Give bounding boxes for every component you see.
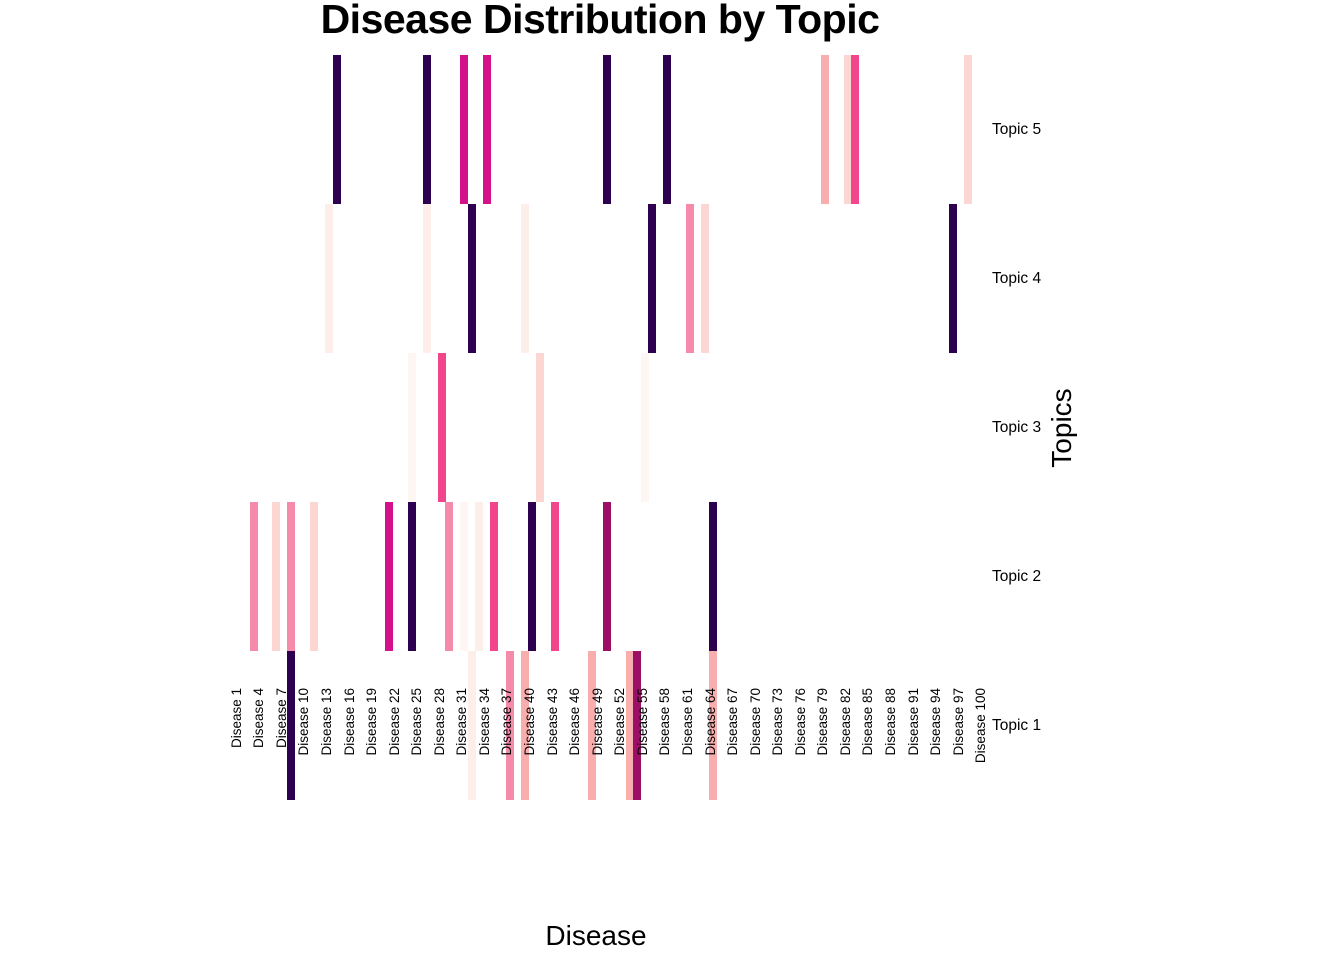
heatmap-cell — [709, 502, 717, 651]
heatmap-cell — [603, 502, 611, 651]
heatmap-cell — [423, 55, 431, 204]
heatmap-cell — [821, 55, 829, 204]
x-axis-tick-label: Disease 34 — [477, 688, 492, 808]
y-axis-tick-topic-2: Topic 2 — [992, 569, 1041, 585]
heatmap-cell — [475, 502, 483, 651]
x-axis-tick-label: Disease 1 — [229, 688, 244, 808]
x-axis-tick-label: Disease 85 — [860, 688, 875, 808]
x-axis-tick-label: Disease 76 — [793, 688, 808, 808]
heatmap-cell — [949, 204, 957, 353]
x-axis-tick-label: Disease 79 — [815, 688, 830, 808]
heatmap-cell — [851, 55, 859, 204]
x-axis-tick-label: Disease 88 — [883, 688, 898, 808]
heatmap-cell — [468, 651, 476, 800]
heatmap-cell — [325, 204, 333, 353]
heatmap-cell — [641, 353, 649, 502]
x-axis-tick-label: Disease 7 — [274, 688, 289, 808]
x-axis-tick-label: Disease 49 — [590, 688, 605, 808]
x-axis-tick-label: Disease 25 — [409, 688, 424, 808]
x-axis-tick-label: Disease 97 — [951, 688, 966, 808]
x-axis-tick-label: Disease 64 — [703, 688, 718, 808]
heatmap-cell — [385, 502, 393, 651]
heatmap-cell — [250, 502, 258, 651]
heatmap-cell — [445, 502, 453, 651]
x-axis-tick-label: Disease 19 — [364, 688, 379, 808]
x-axis-tick-label: Disease 28 — [432, 688, 447, 808]
x-axis-tick-label: Disease 91 — [906, 688, 921, 808]
y-axis-tick-topic-4: Topic 4 — [992, 271, 1041, 287]
x-axis-tick-label: Disease 40 — [522, 688, 537, 808]
x-axis-tick-label: Disease 37 — [499, 688, 514, 808]
x-axis-tick-label: Disease 16 — [342, 688, 357, 808]
x-axis-tick-label: Disease 22 — [387, 688, 402, 808]
heatmap-cell — [701, 204, 709, 353]
heatmap-cell — [438, 353, 446, 502]
heatmap-cell — [272, 502, 280, 651]
heatmap-cell — [551, 502, 559, 651]
heatmap-cell — [408, 502, 416, 651]
heatmap-row — [220, 502, 972, 651]
heatmap-cell — [333, 55, 341, 204]
heatmap-row — [220, 353, 972, 502]
y-axis-tick-topic-5: Topic 5 — [992, 122, 1041, 138]
heatmap-row — [220, 204, 972, 353]
x-axis-tick-label: Disease 31 — [454, 688, 469, 808]
x-axis-tick-label: Disease 43 — [545, 688, 560, 808]
x-axis-title: Disease — [220, 920, 972, 952]
x-axis-tick-label: Disease 67 — [725, 688, 740, 808]
heatmap-cell — [964, 55, 972, 204]
x-axis-tick-label: Disease 13 — [319, 688, 334, 808]
heatmap-cell — [663, 55, 671, 204]
heatmap-cell — [521, 204, 529, 353]
x-axis-tick-label: Disease 52 — [612, 688, 627, 808]
heatmap-cell — [686, 204, 694, 353]
heatmap-cell — [287, 502, 295, 651]
heatmap-row — [220, 55, 972, 204]
heatmap-cell — [528, 502, 536, 651]
x-axis-tick-label: Disease 58 — [657, 688, 672, 808]
heatmap-cell — [648, 204, 656, 353]
y-axis-title: Topics — [1046, 358, 1078, 498]
x-axis-tick-label: Disease 4 — [251, 688, 266, 808]
heatmap-cell — [603, 55, 611, 204]
heatmap-cell — [490, 502, 498, 651]
heatmap-cell — [483, 55, 491, 204]
heatmap-cell — [468, 204, 476, 353]
x-axis-tick-label: Disease 94 — [928, 688, 943, 808]
x-axis-tick-label: Disease 73 — [770, 688, 785, 808]
x-axis-tick-label: Disease 100 — [973, 688, 988, 808]
heatmap-cell — [536, 353, 544, 502]
x-axis-tick-label: Disease 46 — [567, 688, 582, 808]
x-axis-tick-label: Disease 82 — [838, 688, 853, 808]
x-axis-tick-label: Disease 10 — [296, 688, 311, 808]
page-title: Disease Distribution by Topic — [0, 0, 1200, 43]
chart-root: Disease Distribution by Topic Disease 1D… — [0, 0, 1344, 960]
heatmap-cell — [408, 353, 416, 502]
heatmap-cell — [310, 502, 318, 651]
x-axis-tick-label: Disease 55 — [635, 688, 650, 808]
y-axis-tick-topic-1: Topic 1 — [992, 718, 1041, 734]
heatmap-cell — [460, 55, 468, 204]
x-axis-tick-label: Disease 70 — [748, 688, 763, 808]
heatmap-cell — [423, 204, 431, 353]
y-axis-tick-topic-3: Topic 3 — [992, 420, 1041, 436]
x-axis-tick-label: Disease 61 — [680, 688, 695, 808]
heatmap-cell — [460, 502, 468, 651]
